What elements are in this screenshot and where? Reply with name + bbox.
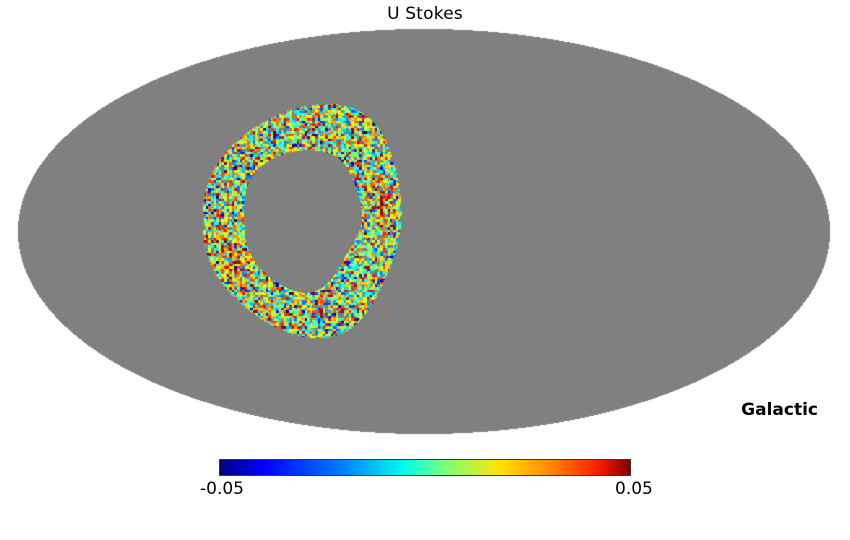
coordinate-system-label: Galactic (741, 400, 818, 420)
sky-map-figure: U Stokes Galactic -0.05 0.05 (0, 0, 850, 540)
colorbar-gradient (219, 459, 631, 476)
colorbar-max-tick-label: 0.05 (615, 479, 653, 499)
mollweide-sky-map (0, 24, 850, 440)
colorbar-min-tick-label: -0.05 (200, 479, 244, 499)
colorbar (219, 459, 631, 476)
page-title: U Stokes (0, 3, 850, 25)
